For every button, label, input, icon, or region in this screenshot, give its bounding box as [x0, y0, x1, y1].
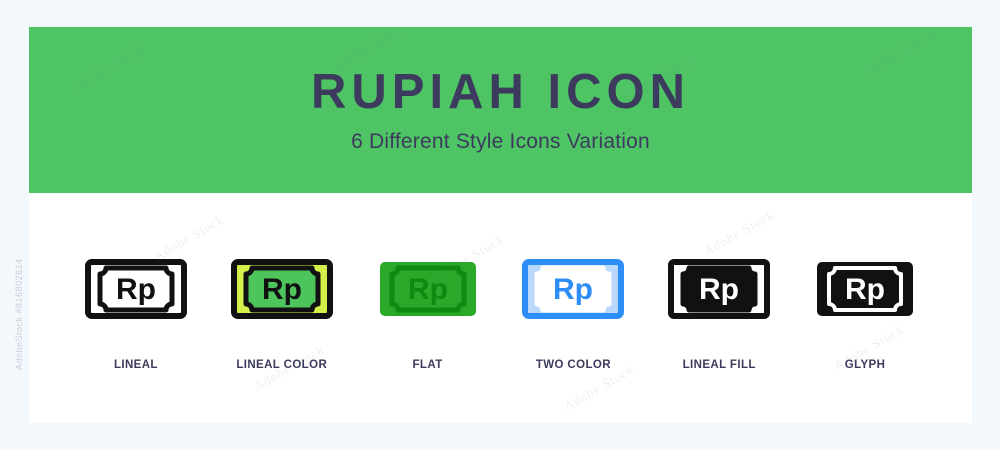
icon-cell-lineal-fill[interactable]: Rp LINEAL FILL — [646, 237, 792, 371]
svg-text:Rp: Rp — [262, 273, 302, 306]
rupiah-banknote-glyph-icon[interactable]: Rp — [813, 237, 917, 341]
icon-label-two-color: TWO COLOR — [536, 359, 611, 371]
poster-card: RUPIAH ICON 6 Different Style Icons Vari… — [29, 27, 972, 423]
rupiah-banknote-flat-icon[interactable]: Rp — [376, 237, 480, 341]
svg-text:Rp: Rp — [553, 273, 593, 306]
page-subtitle: 6 Different Style Icons Variation — [351, 131, 650, 152]
icon-label-lineal: LINEAL — [114, 359, 158, 371]
svg-text:Rp: Rp — [845, 273, 885, 306]
icon-label-flat: FLAT — [413, 359, 443, 371]
icon-cell-flat[interactable]: Rp FLAT — [355, 237, 501, 371]
rupiah-banknote-lineal-color-icon[interactable]: Rp — [230, 237, 334, 341]
rupiah-banknote-lineal-fill-icon[interactable]: Rp — [667, 237, 771, 341]
icon-cell-lineal-color[interactable]: Rp LINEAL COLOR — [209, 237, 355, 371]
svg-text:Rp: Rp — [408, 273, 448, 306]
svg-text:Rp: Rp — [116, 273, 156, 306]
icon-label-lineal-color: LINEAL COLOR — [236, 359, 327, 371]
rupiah-banknote-two-color-icon[interactable]: Rp — [521, 237, 625, 341]
rupiah-banknote-lineal-icon[interactable]: Rp — [84, 237, 188, 341]
poster-header: RUPIAH ICON 6 Different Style Icons Vari… — [29, 27, 972, 193]
icon-label-lineal-fill: LINEAL FILL — [683, 359, 756, 371]
page-title: RUPIAH ICON — [311, 68, 690, 117]
icon-variations-row: Rp LINEAL Rp LINEAL COLOR Rp — [29, 193, 972, 423]
icon-cell-two-color[interactable]: Rp TWO COLOR — [500, 237, 646, 371]
svg-text:Rp: Rp — [699, 273, 739, 306]
icon-cell-lineal[interactable]: Rp LINEAL — [63, 237, 209, 371]
icon-cell-glyph[interactable]: Rp GLYPH — [792, 237, 938, 371]
watermark-left-rail: AdobeStock #816802614 — [14, 258, 24, 370]
icon-label-glyph: GLYPH — [845, 359, 886, 371]
